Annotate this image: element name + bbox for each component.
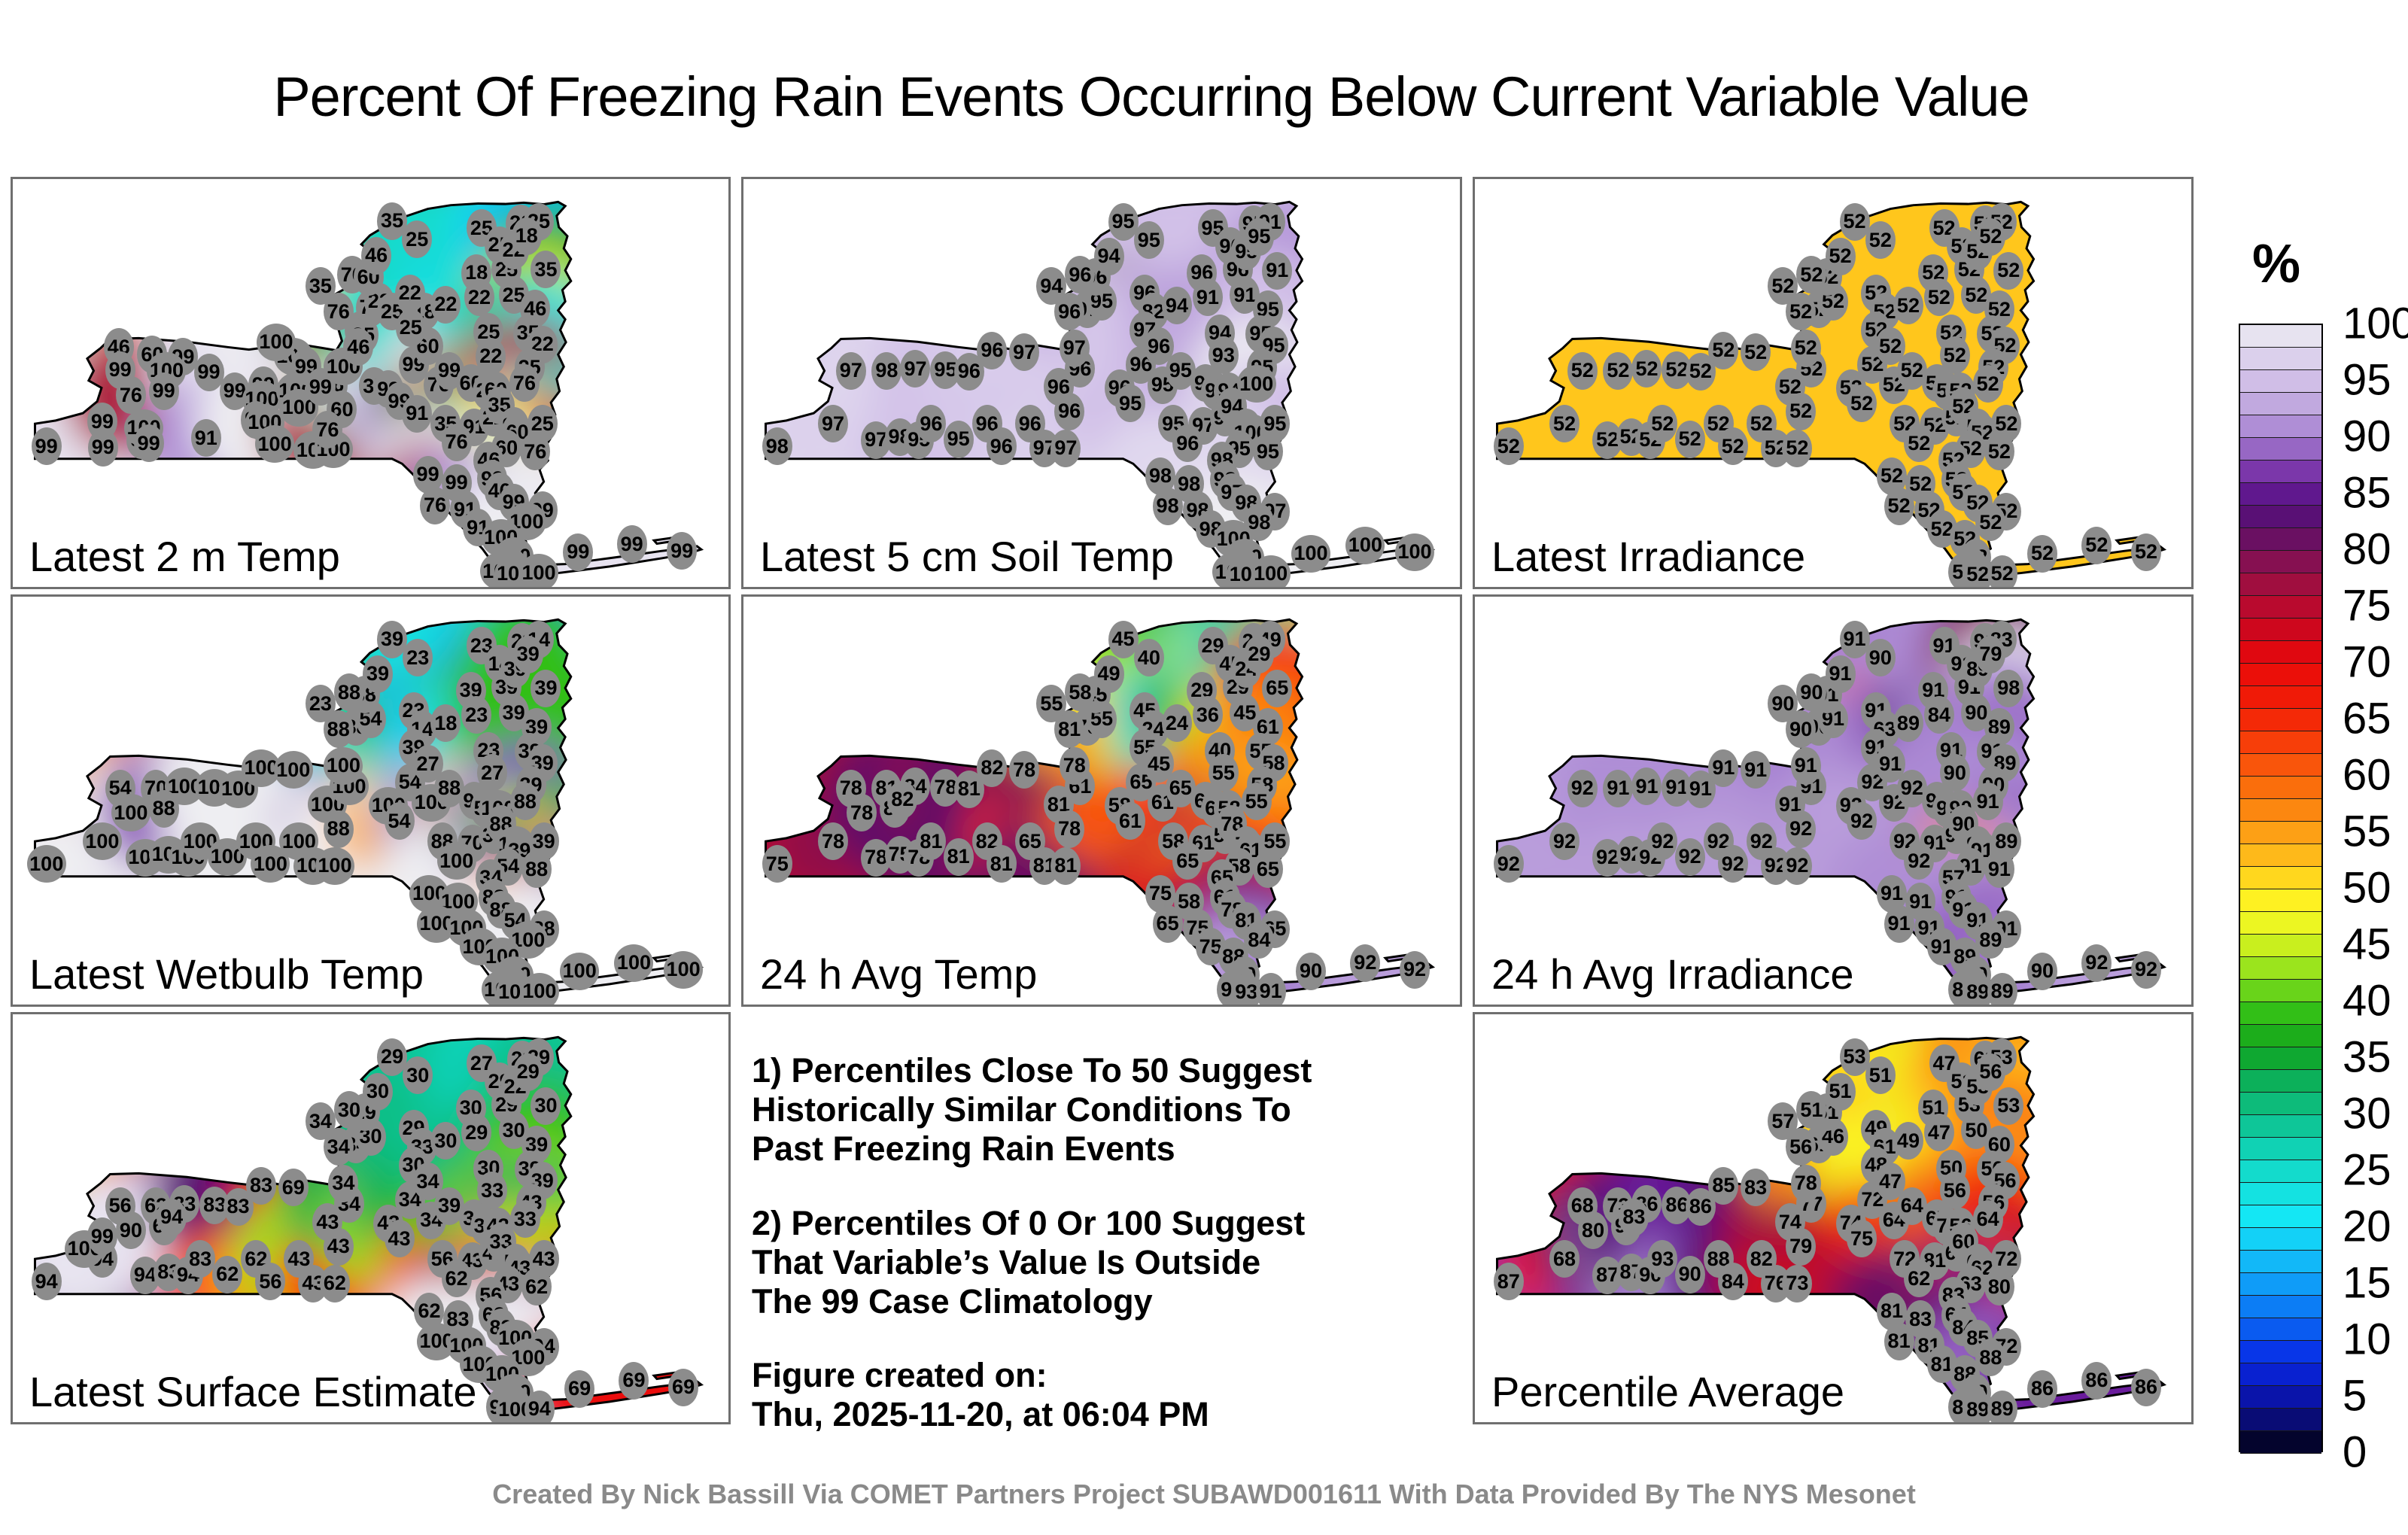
colorbar-segment <box>2240 957 2321 980</box>
colorbar-segment <box>2240 483 2321 506</box>
colorbar-segment <box>2240 1138 2321 1160</box>
colorbar-segment <box>2240 1002 2321 1025</box>
colorbar-segment <box>2240 889 2321 912</box>
footer-credit: Created By Nick Bassill Via COMET Partne… <box>0 1479 2408 1510</box>
colorbar-gradient <box>2239 324 2323 1452</box>
colorbar-tick-label: 20 <box>2343 1202 2391 1252</box>
colorbar-tick-label: 60 <box>2343 750 2391 801</box>
colorbar-segment <box>2240 393 2321 415</box>
colorbar-segment <box>2240 754 2321 777</box>
panel-label-24h-avg-temp: 24 h Avg Temp <box>760 950 1037 999</box>
colorbar-segment <box>2240 506 2321 528</box>
colorbar-tick-label: 70 <box>2343 637 2391 688</box>
colorbar-segment <box>2240 596 2321 619</box>
colorbar-tick-label: 10 <box>2343 1315 2391 1365</box>
colorbar-tick-label: 75 <box>2343 581 2391 631</box>
colorbar-segment <box>2240 1386 2321 1409</box>
colorbar-segment <box>2240 370 2321 393</box>
colorbar-segment <box>2240 912 2321 935</box>
colorbar-tick-label: 40 <box>2343 976 2391 1026</box>
panel-label-percentile-average: Percentile Average <box>1491 1367 1844 1416</box>
colorbar-segment <box>2240 551 2321 573</box>
colorbar-segment <box>2240 1070 2321 1093</box>
colorbar-tick-label: 50 <box>2343 863 2391 913</box>
colorbar-tick-label: 45 <box>2343 919 2391 970</box>
colorbar-segment <box>2240 641 2321 664</box>
colorbar-segment <box>2240 709 2321 731</box>
colorbar-segment <box>2240 1115 2321 1138</box>
colorbar-segment <box>2240 1183 2321 1205</box>
panel-label-24h-avg-irradiance: 24 h Avg Irradiance <box>1491 950 1854 999</box>
panel-label-latest-irradiance: Latest Irradiance <box>1491 532 1805 581</box>
colorbar-segment <box>2240 1228 2321 1251</box>
colorbar-segment <box>2240 438 2321 460</box>
colorbar-segment <box>2240 325 2321 348</box>
colorbar-segment <box>2240 844 2321 867</box>
panel-label-latest-5cm-soil-temp: Latest 5 cm Soil Temp <box>760 532 1174 581</box>
panel-label-latest-2m-temp: Latest 2 m Temp <box>29 532 340 581</box>
colorbar-segment <box>2240 1205 2321 1228</box>
colorbar-tick-label: 55 <box>2343 807 2391 857</box>
colorbar-segment <box>2240 799 2321 822</box>
colorbar-segment <box>2240 1047 2321 1070</box>
colorbar-segment <box>2240 573 2321 596</box>
colorbar-segment <box>2240 731 2321 754</box>
figure-root: Percent Of Freezing Rain Events Occurrin… <box>0 0 2408 1535</box>
colorbar-segment <box>2240 867 2321 889</box>
colorbar-segment <box>2240 1296 2321 1318</box>
panel-label-latest-surface-estimate: Latest Surface Estimate <box>29 1367 477 1416</box>
colorbar-tick-label: 30 <box>2343 1089 2391 1139</box>
colorbar-tick-label: 90 <box>2343 412 2391 462</box>
colorbar-tick-label: 65 <box>2343 694 2391 744</box>
colorbar-segment <box>2240 822 2321 844</box>
colorbar-segment <box>2240 1363 2321 1386</box>
colorbar-segment <box>2240 1318 2321 1341</box>
colorbar-segment <box>2240 460 2321 483</box>
colorbar-segment <box>2240 528 2321 551</box>
colorbar-segment <box>2240 348 2321 370</box>
colorbar: % 10095908580757065605550454035302520151… <box>0 0 2408 1535</box>
colorbar-tick-label: 35 <box>2343 1032 2391 1083</box>
colorbar-segment <box>2240 1409 2321 1431</box>
colorbar-segment <box>2240 1160 2321 1183</box>
colorbar-segment <box>2240 935 2321 957</box>
colorbar-segment <box>2240 1341 2321 1363</box>
colorbar-segment <box>2240 415 2321 438</box>
colorbar-tick-label: 80 <box>2343 524 2391 575</box>
colorbar-tick-label: 0 <box>2343 1427 2367 1478</box>
colorbar-tick-label: 25 <box>2343 1145 2391 1196</box>
colorbar-segment <box>2240 980 2321 1002</box>
colorbar-segment <box>2240 1251 2321 1273</box>
colorbar-tick-label: 100 <box>2343 299 2408 349</box>
panel-label-latest-wetbulb-temp: Latest Wetbulb Temp <box>29 950 424 999</box>
colorbar-segment <box>2240 1273 2321 1296</box>
colorbar-segment <box>2240 664 2321 686</box>
colorbar-segment <box>2240 777 2321 799</box>
colorbar-segment <box>2240 1093 2321 1115</box>
colorbar-tick-label: 15 <box>2343 1258 2391 1309</box>
colorbar-tick-label: 85 <box>2343 468 2391 518</box>
colorbar-segment <box>2240 686 2321 709</box>
colorbar-unit-label: % <box>2252 233 2300 295</box>
colorbar-tick-label: 5 <box>2343 1371 2367 1421</box>
colorbar-segment <box>2240 1025 2321 1047</box>
colorbar-tick-label: 95 <box>2343 355 2391 406</box>
colorbar-segment <box>2240 1431 2321 1454</box>
colorbar-segment <box>2240 619 2321 641</box>
